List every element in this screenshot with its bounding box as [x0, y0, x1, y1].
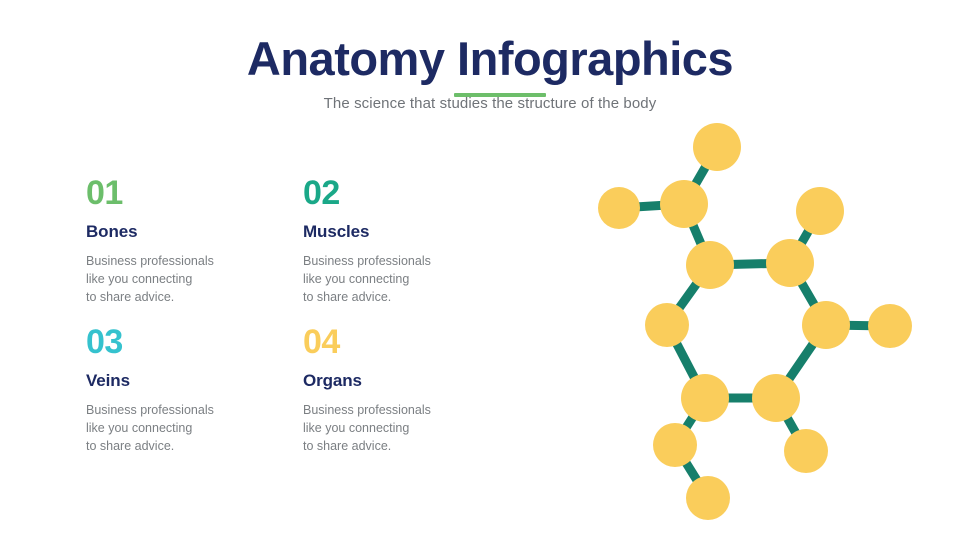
molecule-graph: [560, 95, 980, 551]
item-number: 03: [86, 325, 276, 359]
item-veins: 03 Veins Business professionals like you…: [86, 325, 276, 455]
molecule-node: [645, 303, 689, 347]
item-body: Business professionals like you connecti…: [86, 401, 276, 455]
molecule-node: [802, 301, 850, 349]
item-title: Muscles: [303, 222, 493, 242]
molecule-node: [766, 239, 814, 287]
item-bones: 01 Bones Business professionals like you…: [86, 176, 276, 306]
molecule-node: [784, 429, 828, 473]
molecule-node: [598, 187, 640, 229]
item-title: Bones: [86, 222, 276, 242]
item-number: 01: [86, 176, 276, 210]
item-title: Veins: [86, 371, 276, 391]
item-number: 04: [303, 325, 493, 359]
molecule-node: [686, 241, 734, 289]
molecule-node: [752, 374, 800, 422]
molecule-node: [681, 374, 729, 422]
accent-divider: [454, 93, 546, 97]
molecule-node: [653, 423, 697, 467]
molecule-node: [868, 304, 912, 348]
molecule-node: [796, 187, 844, 235]
molecule-node: [660, 180, 708, 228]
item-title: Organs: [303, 371, 493, 391]
item-body: Business professionals like you connecti…: [303, 401, 493, 455]
item-number: 02: [303, 176, 493, 210]
item-body: Business professionals like you connecti…: [86, 252, 276, 306]
item-body: Business professionals like you connecti…: [303, 252, 493, 306]
slide-canvas: Anatomy Infographics The science that st…: [0, 0, 980, 551]
molecule-illustration: [560, 95, 980, 551]
item-muscles: 02 Muscles Business professionals like y…: [303, 176, 493, 306]
molecule-node: [693, 123, 741, 171]
molecule-node: [686, 476, 730, 520]
item-organs: 04 Organs Business professionals like yo…: [303, 325, 493, 455]
page-title: Anatomy Infographics: [0, 34, 980, 83]
